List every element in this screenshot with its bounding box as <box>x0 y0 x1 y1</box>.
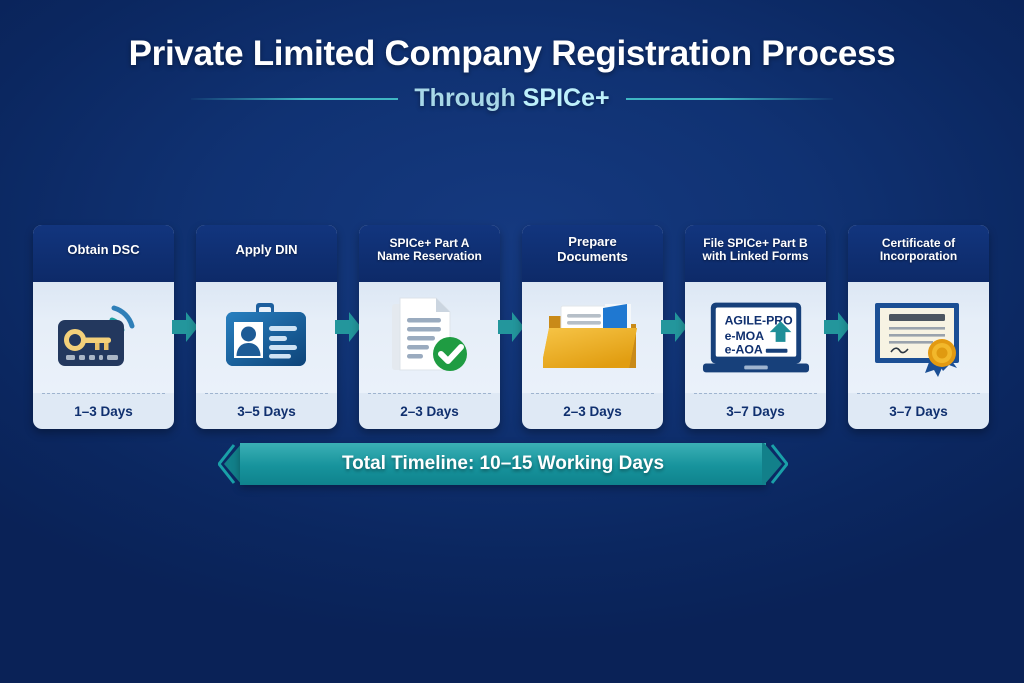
step-card-file-spice-part-b[interactable]: File SPICe+ Part B with Linked Forms AGI… <box>685 225 826 429</box>
subtitle-rule-right <box>626 98 833 100</box>
document-approved-icon <box>375 295 485 381</box>
step-6-title-line-1: Certificate of <box>880 237 957 250</box>
step-6-body <box>848 282 989 393</box>
step-2-header: Apply DIN <box>196 225 337 282</box>
connector-arrow-4 <box>663 312 685 342</box>
step-6-title-line-2: Incorporation <box>880 250 957 263</box>
connector-arrow-5 <box>826 312 848 342</box>
laptop-upload-icon: AGILE-PRO e-MOA e-AOA <box>701 295 811 381</box>
screen-line-2: e-MOA <box>724 328 764 342</box>
process-steps: Obtain DSC <box>33 225 991 429</box>
page-title: Private Limited Company Registration Pro… <box>0 34 1024 73</box>
step-2-title: Apply DIN <box>235 243 297 258</box>
step-card-apply-din[interactable]: Apply DIN <box>196 225 337 429</box>
step-3-title-line-1: SPICe+ Part A <box>377 237 482 250</box>
id-card-icon <box>212 295 322 381</box>
step-card-obtain-dsc[interactable]: Obtain DSC <box>33 225 174 429</box>
step-5-footer: 3–7 Days <box>694 393 817 429</box>
step-4-footer: 2–3 Days <box>531 393 654 429</box>
step-2-body <box>196 282 337 393</box>
connector-arrow-3 <box>500 312 522 342</box>
certificate-seal-icon <box>864 295 974 381</box>
step-2-footer: 3–5 Days <box>205 393 328 429</box>
step-5-title-line-2: with Linked Forms <box>702 250 808 263</box>
step-4-title: Prepare Documents <box>557 235 628 264</box>
screen-line-3: e-AOA <box>724 342 762 356</box>
step-3-title-line-2: Name Reservation <box>377 250 482 263</box>
subtitle-rule-left <box>191 98 398 100</box>
infographic-header: Private Limited Company Registration Pro… <box>0 34 1024 113</box>
step-6-title: Certificate of Incorporation <box>880 237 957 264</box>
step-5-duration: 3–7 Days <box>726 404 785 419</box>
step-5-header: File SPICe+ Part B with Linked Forms <box>685 225 826 282</box>
step-4-duration: 2–3 Days <box>563 404 622 419</box>
step-card-prepare-documents[interactable]: Prepare Documents <box>522 225 663 429</box>
step-6-duration: 3–7 Days <box>889 404 948 419</box>
step-1-header: Obtain DSC <box>33 225 174 282</box>
step-1-footer: 1–3 Days <box>42 393 165 429</box>
step-3-header: SPICe+ Part A Name Reservation <box>359 225 500 282</box>
step-3-footer: 2–3 Days <box>368 393 491 429</box>
step-3-body <box>359 282 500 393</box>
step-3-duration: 2–3 Days <box>400 404 459 419</box>
step-4-title-line-2: Documents <box>557 250 628 265</box>
digital-signature-certificate-icon <box>49 295 159 381</box>
step-4-title-line-1: Prepare <box>557 235 628 250</box>
step-6-footer: 3–7 Days <box>857 393 980 429</box>
total-timeline-banner: Total Timeline: 10–15 Working Days <box>218 443 788 485</box>
folder-documents-icon <box>538 295 648 381</box>
step-3-title: SPICe+ Part A Name Reservation <box>377 237 482 264</box>
step-card-spice-part-a[interactable]: SPICe+ Part A Name Reservation <box>359 225 500 429</box>
step-5-title: File SPICe+ Part B with Linked Forms <box>702 237 808 264</box>
step-4-body <box>522 282 663 393</box>
step-5-title-line-1: File SPICe+ Part B <box>702 237 808 250</box>
step-4-header: Prepare Documents <box>522 225 663 282</box>
subtitle-row: Through SPICe+ <box>0 84 1024 113</box>
step-1-body <box>33 282 174 393</box>
step-1-title: Obtain DSC <box>67 243 139 258</box>
step-6-header: Certificate of Incorporation <box>848 225 989 282</box>
subtitle-prefix: Through <box>414 84 522 112</box>
connector-arrow-1 <box>174 312 196 342</box>
step-1-duration: 1–3 Days <box>74 404 133 419</box>
step-2-duration: 3–5 Days <box>237 404 296 419</box>
banner-chevron-right <box>762 443 788 485</box>
subtitle-accent: SPICe+ <box>523 84 610 112</box>
banner-body: Total Timeline: 10–15 Working Days <box>240 443 766 485</box>
step-5-body: AGILE-PRO e-MOA e-AOA <box>685 282 826 393</box>
banner-text: Total Timeline: 10–15 Working Days <box>342 453 664 475</box>
connector-arrow-2 <box>337 312 359 342</box>
step-card-certificate-of-incorporation[interactable]: Certificate of Incorporation <box>848 225 989 429</box>
page-subtitle: Through SPICe+ <box>414 84 609 113</box>
